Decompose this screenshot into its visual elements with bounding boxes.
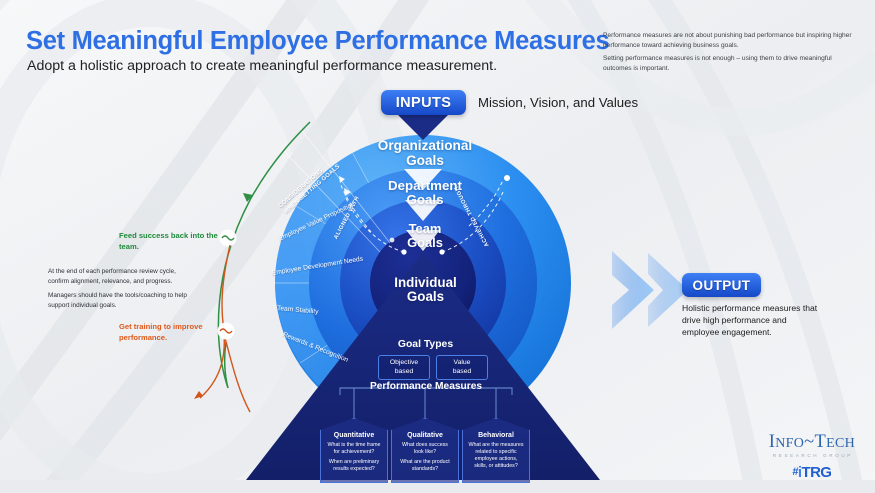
logo-hashtag-rest: TRG bbox=[802, 464, 832, 481]
measure-card-question-1: What is the time frame for achievement? bbox=[326, 442, 382, 456]
annotation-body-para-1: At the end of each performance review cy… bbox=[48, 267, 198, 286]
measure-card-question-2: When are preliminary results expected? bbox=[326, 459, 382, 473]
annotation-body-para-2: Managers should have the tools/coaching … bbox=[48, 291, 198, 310]
intro-note-1: Performance measures are not about punis… bbox=[603, 31, 859, 51]
measure-card-title: Quantitative bbox=[326, 432, 382, 439]
annotation-body: At the end of each performance review cy… bbox=[48, 267, 198, 310]
goal-types-title: Goal Types bbox=[353, 339, 498, 350]
logo-hashtag: #iTRG bbox=[769, 465, 855, 480]
measure-card-behavioral[interactable]: Behavioral What are the measures related… bbox=[462, 418, 530, 483]
info-tech-logo: INFO~TECH RESEARCH GROUP #iTRG bbox=[769, 433, 855, 481]
annotation-training: Get training to improve performance. bbox=[119, 322, 229, 344]
ring-label-individual: Individual Goals bbox=[358, 276, 493, 305]
measure-card-question-1: What are the measures related to specifi… bbox=[468, 442, 524, 471]
logo-ech: ECH bbox=[826, 436, 855, 451]
logo-tagline: RESEARCH GROUP bbox=[771, 453, 855, 458]
output-chevrons bbox=[612, 251, 688, 329]
page-title: Set Meaningful Employee Performance Meas… bbox=[26, 27, 609, 56]
logo-wordmark: INFO~TECH bbox=[769, 433, 855, 452]
measure-card-title: Qualitative bbox=[397, 432, 453, 439]
output-badge[interactable]: OUTPUT bbox=[682, 273, 761, 297]
inputs-badge[interactable]: INPUTS bbox=[381, 90, 466, 115]
logo-nfo: NFO bbox=[775, 436, 804, 451]
measure-card-qualitative[interactable]: Qualitative What does success look like?… bbox=[391, 418, 459, 483]
inputs-caption: Mission, Vision, and Values bbox=[478, 95, 638, 110]
goal-type-objective[interactable]: Objective based bbox=[378, 355, 430, 380]
ring-label-department: Department Goals bbox=[345, 179, 505, 207]
output-badge-label: OUTPUT bbox=[693, 278, 751, 293]
intro-note-2: Setting performance measures is not enou… bbox=[603, 54, 859, 74]
measure-card-question-2: What are the product standards? bbox=[397, 459, 453, 473]
measure-card-question-1: What does success look like? bbox=[397, 442, 453, 456]
goal-type-value[interactable]: Value based bbox=[436, 355, 488, 380]
measure-card-quantitative[interactable]: Quantitative What is the time frame for … bbox=[320, 418, 388, 483]
performance-measures-title: Performance Measures bbox=[340, 381, 512, 392]
measure-card-title: Behavioral bbox=[468, 432, 524, 439]
output-caption: Holistic performance measures that drive… bbox=[682, 303, 822, 339]
inputs-badge-label: INPUTS bbox=[396, 95, 452, 111]
logo-tilde-t: ~T bbox=[804, 432, 826, 452]
ring-label-organizational: Organizational Goals bbox=[335, 139, 515, 168]
infographic-canvas: Set Meaningful Employee Performance Meas… bbox=[0, 0, 875, 493]
annotation-feedback: Feed success back into the team. bbox=[119, 231, 229, 253]
page-subtitle: Adopt a holistic approach to create mean… bbox=[27, 58, 497, 74]
